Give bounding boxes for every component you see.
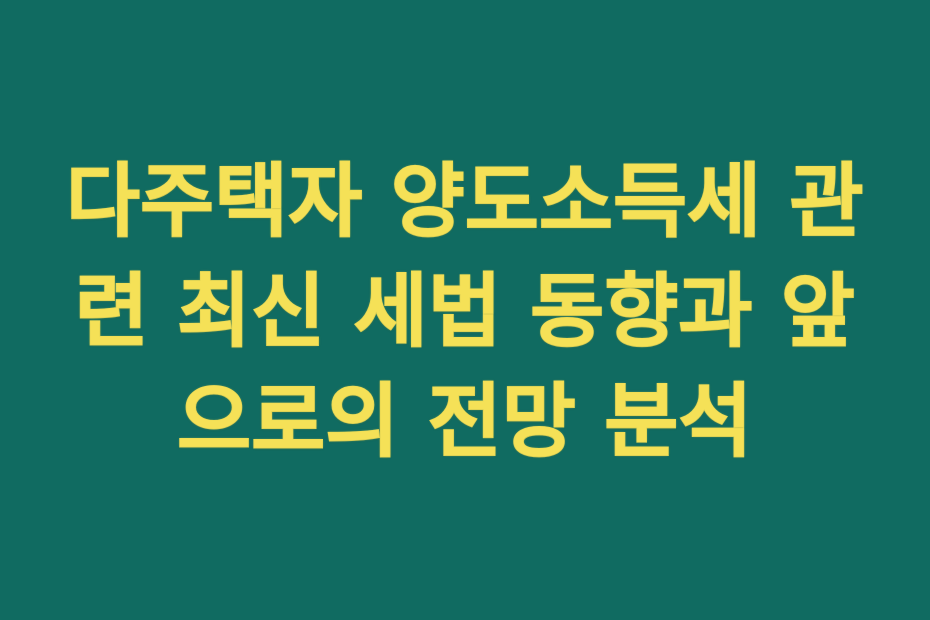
title-block: 다주택자 양도소득세 관 련 최신 세법 동향과 앞 으로의 전망 분석 — [55, 147, 875, 477]
title-line-2: 련 최신 세법 동향과 앞 — [55, 257, 875, 367]
thumbnail-canvas: 다주택자 양도소득세 관 련 최신 세법 동향과 앞 으로의 전망 분석 — [0, 0, 930, 620]
title-line-3: 으로의 전망 분석 — [55, 367, 875, 477]
title-line-1: 다주택자 양도소득세 관 — [55, 147, 875, 257]
